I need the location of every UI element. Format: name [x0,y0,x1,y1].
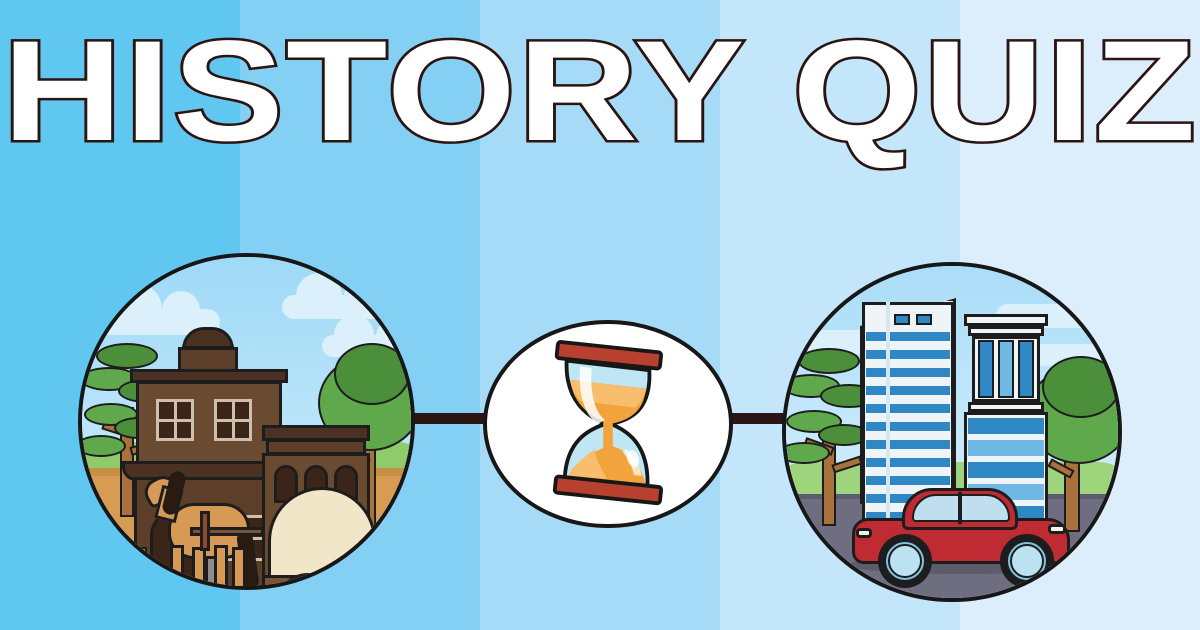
connector-bar-right [724,413,788,424]
history-quiz-poster: HISTORY QUIZ [0,0,1200,630]
poster-title-container: HISTORY QUIZ [0,22,1200,162]
hourglass-icon [487,324,729,524]
connector-bar-left [408,413,492,424]
cloud-icon [282,295,402,319]
panel-old-west-scene [78,253,415,590]
poster-title: HISTORY QUIZ [2,22,1197,162]
panel-hourglass [483,320,733,528]
panel-modern-city-scene [782,262,1122,602]
